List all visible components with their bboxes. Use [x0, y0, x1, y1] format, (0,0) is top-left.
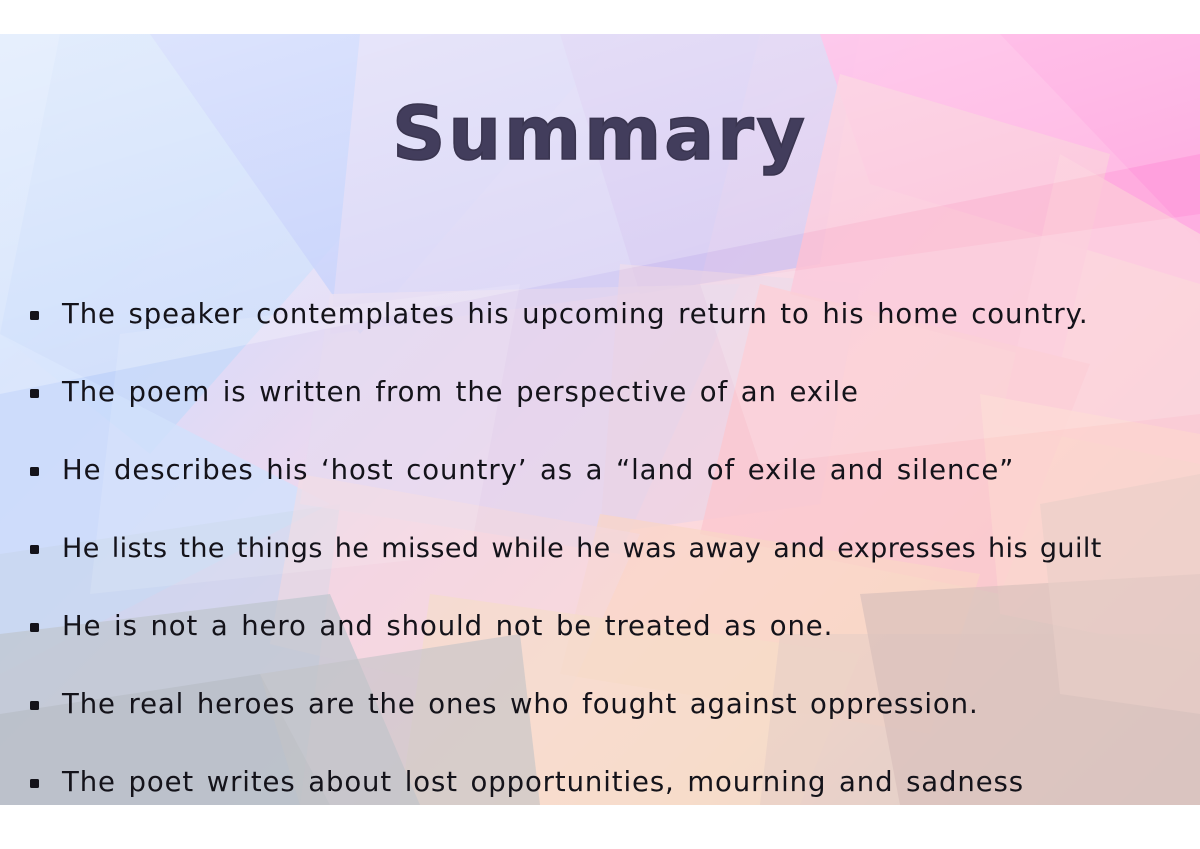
slide: Summary The speaker contemplates his upc… [0, 0, 1200, 849]
list-item-label: He is not a hero and should not be treat… [62, 611, 833, 643]
list-item-label: He describes his ‘host country’ as a “la… [62, 455, 1014, 487]
square-bullet-icon [30, 467, 39, 476]
letterbox-top [0, 0, 1200, 34]
list-item: The speaker contemplates his upcoming re… [24, 276, 1188, 354]
list-item: He lists the things he missed while he w… [24, 510, 1188, 588]
square-bullet-icon [30, 623, 39, 632]
letterbox-bottom [0, 805, 1200, 849]
square-bullet-icon [30, 545, 39, 554]
list-item: He describes his ‘host country’ as a “la… [24, 432, 1188, 510]
square-bullet-icon [30, 389, 39, 398]
list-item: He is not a hero and should not be treat… [24, 588, 1188, 666]
list-item-label: The real heroes are the ones who fought … [62, 689, 979, 721]
list-item: The poem is written from the perspective… [24, 354, 1188, 432]
square-bullet-icon [30, 701, 39, 710]
square-bullet-icon [30, 311, 39, 320]
summary-bullet-list: The speaker contemplates his upcoming re… [24, 276, 1188, 822]
square-bullet-icon [30, 779, 39, 788]
list-item-label: He lists the things he missed while he w… [62, 533, 1102, 564]
list-item-label: The speaker contemplates his upcoming re… [62, 299, 1088, 331]
list-item-label: The poem is written from the perspective… [62, 377, 859, 409]
list-item-label: The poet writes about lost opportunities… [62, 767, 1024, 799]
slide-title: Summary [0, 96, 1200, 174]
list-item: The real heroes are the ones who fought … [24, 666, 1188, 744]
